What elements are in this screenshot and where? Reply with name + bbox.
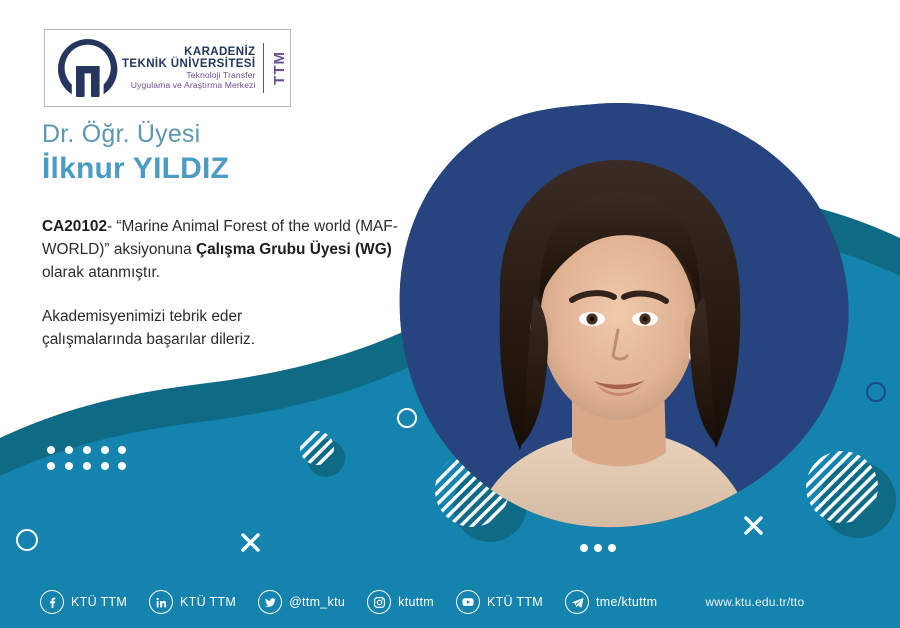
telegram-handle: tme/ktuttm: [596, 595, 657, 609]
twitter-handle: @ttm_ktu: [289, 595, 345, 609]
action-code: CA20102: [42, 218, 107, 235]
announcement-text: CA20102- “Marine Animal Forest of the wo…: [42, 216, 414, 284]
assignment-tail: olarak atanmıştır.: [42, 264, 160, 281]
instagram-handle: ktuttm: [398, 595, 434, 609]
logo-divider: [263, 43, 264, 93]
title-block: Dr. Öğr. Üyesi İlknur YILDIZ: [42, 120, 462, 187]
youtube-icon: [456, 590, 480, 614]
person-name: İlknur YILDIZ: [42, 151, 462, 187]
social-youtube[interactable]: KTÜ TTM: [456, 590, 543, 614]
facebook-icon: [40, 590, 64, 614]
university-logo: KARADENİZ TEKNİK ÜNİVERSİTESİ Teknoloji …: [44, 29, 291, 107]
linkedin-icon: [149, 590, 173, 614]
instagram-icon: [367, 590, 391, 614]
pupil-right: [643, 317, 648, 322]
congrats-line-1: Akademisyenimizi tebrik eder: [42, 305, 382, 328]
website-url[interactable]: www.ktu.edu.tr/tto: [705, 595, 804, 609]
logo-line-2: TEKNİK ÜNİVERSİTESİ: [122, 58, 255, 70]
linkedin-handle: KTÜ TTM: [180, 595, 236, 609]
portrait-clip-group: [400, 90, 870, 560]
social-facebook[interactable]: KTÜ TTM: [40, 590, 127, 614]
logo-text-block: KARADENİZ TEKNİK ÜNİVERSİTESİ Teknoloji …: [122, 46, 261, 90]
congratulations-text: Akademisyenimizi tebrik eder çalışmaları…: [42, 305, 382, 351]
facebook-handle: KTÜ TTM: [71, 595, 127, 609]
announcement-card: KARADENİZ TEKNİK ÜNİVERSİTESİ Teknoloji …: [0, 0, 900, 628]
social-linkedin[interactable]: KTÜ TTM: [149, 590, 236, 614]
pupil-left: [590, 317, 595, 322]
social-telegram[interactable]: tme/ktuttm: [565, 590, 657, 614]
logo-line-1: KARADENİZ: [122, 46, 255, 58]
social-twitter[interactable]: @ttm_ktu: [258, 590, 345, 614]
logo-line-4: Uygulama ve Araştırma Merkezi: [122, 81, 255, 90]
ktu-circle-monogram-icon: [54, 36, 122, 100]
logo-ttm-abbr: TTM: [271, 51, 288, 85]
role-assignment: Çalışma Grubu Üyesi (WG): [196, 241, 392, 258]
social-instagram[interactable]: ktuttm: [367, 590, 434, 614]
youtube-handle: KTÜ TTM: [487, 595, 543, 609]
telegram-icon: [565, 590, 589, 614]
academic-role: Dr. Öğr. Üyesi: [42, 120, 462, 149]
twitter-icon: [258, 590, 282, 614]
social-footer: KTÜ TTM KTÜ TTM @ttm_ktu ktuttm: [0, 576, 900, 628]
congrats-line-2: çalışmalarında başarılar dileriz.: [42, 328, 382, 351]
logo-line-3: Teknoloji Transfer: [122, 71, 255, 80]
